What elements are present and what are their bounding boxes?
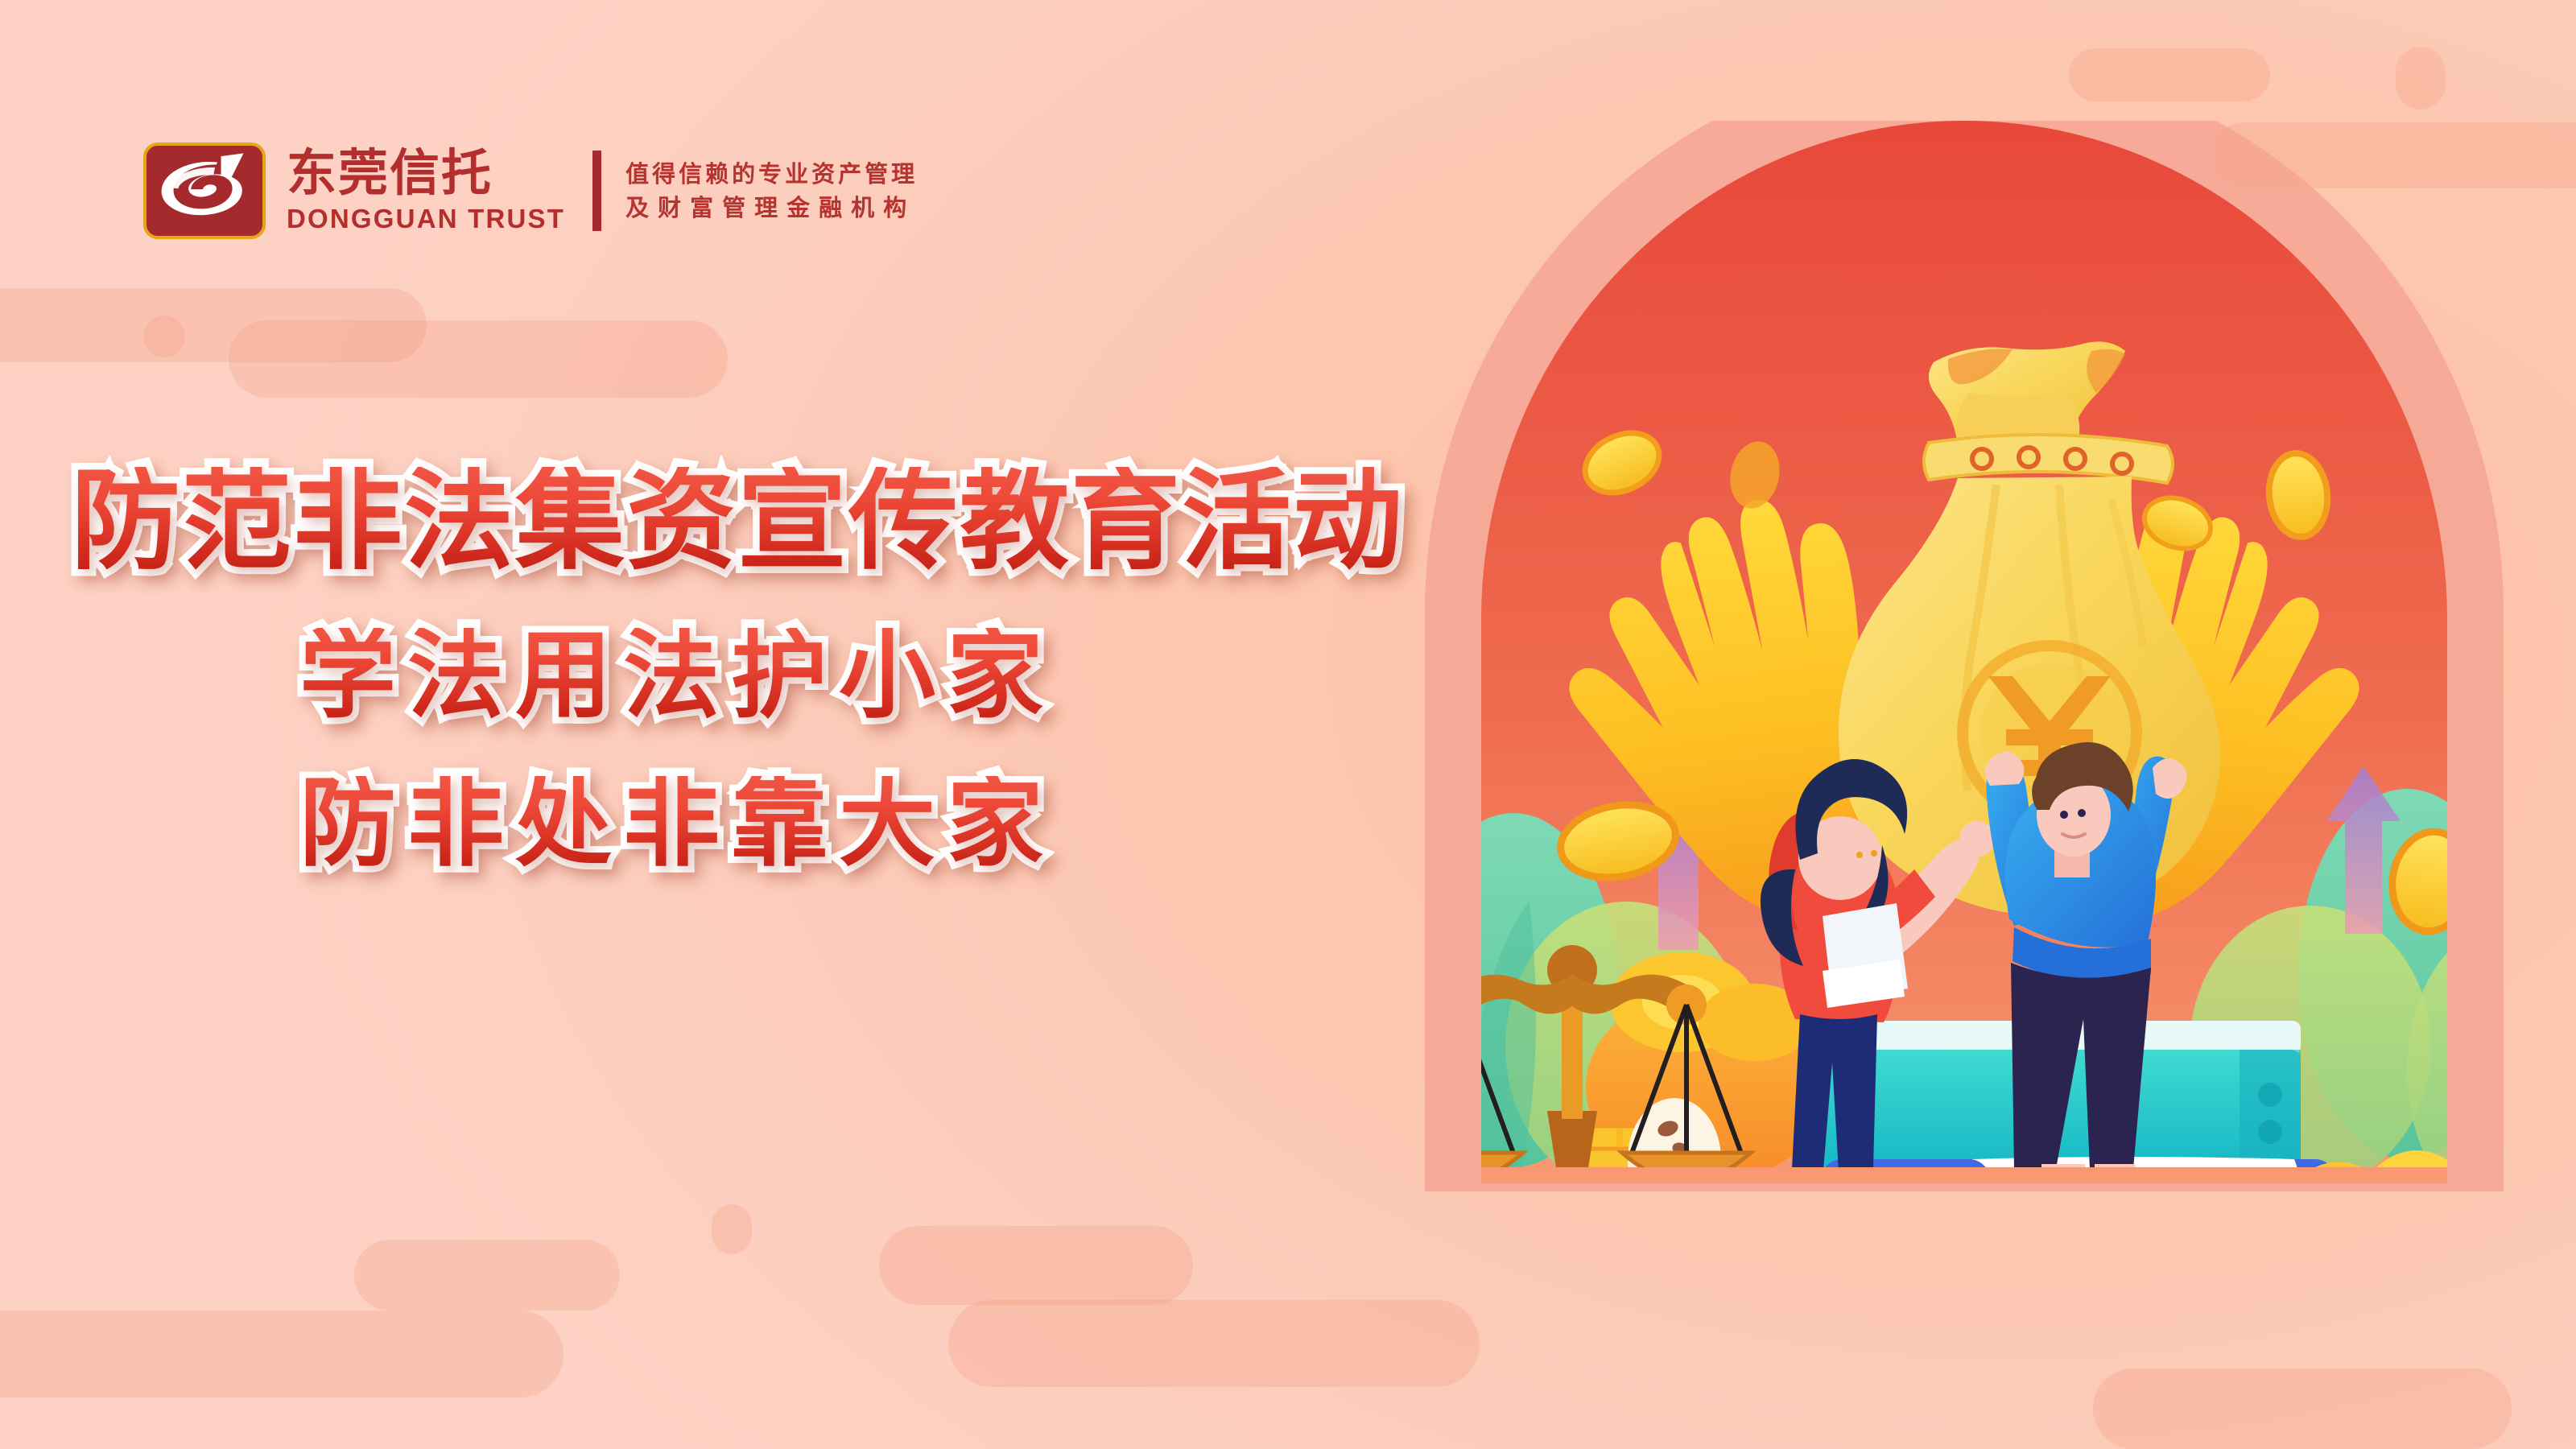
decor-pill bbox=[948, 1300, 1480, 1387]
headline-line-1: 防范非法集资宣传教育活动 防范非法集资宣传教育活动 bbox=[71, 467, 1433, 576]
tagline-line-2: 及财富管理金融机构 bbox=[625, 196, 918, 220]
decor-pill bbox=[0, 288, 427, 362]
brand-wordmark: 东莞信托 DONGGUAN TRUST bbox=[287, 147, 565, 233]
banner-canvas: 东莞信托 DONGGUAN TRUST 值得信赖的专业资产管理 及财富管理金融机… bbox=[0, 0, 2576, 1449]
decor-pill bbox=[2093, 1368, 2512, 1449]
decor-pill bbox=[354, 1240, 620, 1311]
tagline-line-1: 值得信赖的专业资产管理 bbox=[625, 163, 918, 186]
headline-line-2: 学法用法护小家 学法用法护小家 bbox=[299, 628, 1433, 724]
decor-pill bbox=[2069, 48, 2270, 101]
headline-line-3-fill: 防非处非靠大家 bbox=[299, 776, 1433, 873]
brand-logo-block: 东莞信托 DONGGUAN TRUST 值得信赖的专业资产管理 及财富管理金融机… bbox=[143, 122, 918, 259]
anti-illegal-fundraising-illustration bbox=[1360, 121, 2568, 1288]
brand-name-cn: 东莞信托 bbox=[287, 147, 565, 198]
decor-pill bbox=[229, 320, 728, 398]
dongguan-trust-monogram-icon bbox=[143, 142, 266, 239]
logo-divider bbox=[592, 151, 601, 231]
headline-line-2-fill: 学法用法护小家 bbox=[299, 628, 1433, 724]
headline-line-1-fill: 防范非法集资宣传教育活动 bbox=[71, 467, 1433, 576]
decor-pill bbox=[143, 316, 185, 357]
brand-name-en: DONGGUAN TRUST bbox=[287, 204, 565, 234]
decor-pill bbox=[712, 1204, 752, 1254]
decor-pill bbox=[0, 1311, 563, 1397]
ground-wave bbox=[1715, 1232, 2431, 1288]
decor-pill bbox=[879, 1226, 1193, 1305]
headline-group: 防范非法集资宣传教育活动 防范非法集资宣传教育活动 学法用法护小家 学法用法护小… bbox=[0, 467, 1433, 873]
headline-line-3: 防非处非靠大家 防非处非靠大家 bbox=[299, 776, 1433, 873]
decor-pill bbox=[2396, 47, 2446, 109]
brand-tagline: 值得信赖的专业资产管理 及财富管理金融机构 bbox=[625, 163, 918, 220]
